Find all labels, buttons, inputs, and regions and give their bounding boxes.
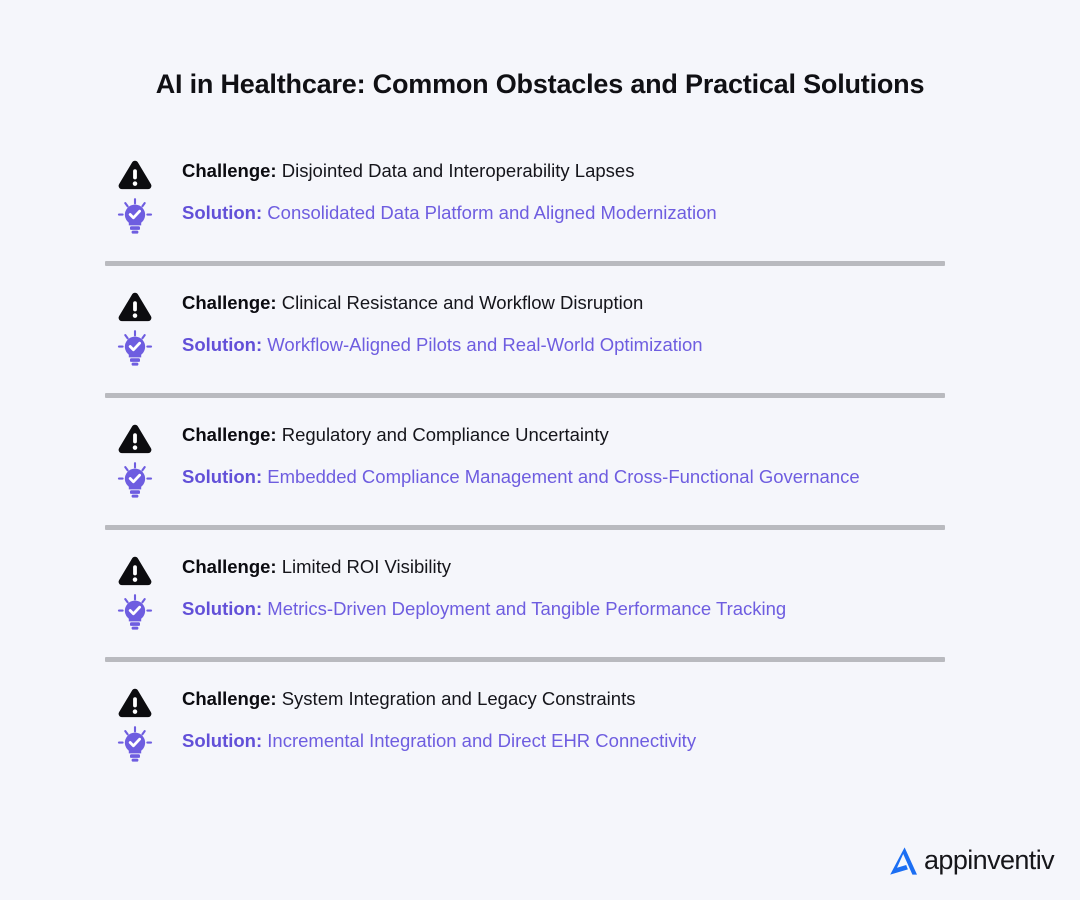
solution-text-cell: Solution: Workflow-Aligned Pilots and Re… <box>162 331 962 358</box>
solution-text-cell: Solution: Incremental Integration and Di… <box>162 727 962 754</box>
challenge-row: Challenge: Regulatory and Compliance Unc… <box>0 422 1080 455</box>
solution-text-cell: Solution: Embedded Compliance Management… <box>162 463 962 490</box>
challenge-text: Challenge: Limited ROI Visibility <box>182 554 962 580</box>
challenge-label: Challenge: <box>182 688 277 709</box>
warning-triangle-icon <box>118 687 152 719</box>
solution-row: Solution: Metrics-Driven Deployment and … <box>0 595 1080 631</box>
challenge-row: Challenge: Limited ROI Visibility <box>0 554 1080 587</box>
solution-label: Solution: <box>182 202 262 223</box>
lightbulb-check-icon <box>116 593 154 631</box>
challenge-text-cell: Challenge: Regulatory and Compliance Unc… <box>162 422 962 448</box>
challenge-label: Challenge: <box>182 424 277 445</box>
solution-icon-cell <box>118 727 162 763</box>
solution-row: Solution: Consolidated Data Platform and… <box>0 199 1080 235</box>
challenge-label: Challenge: <box>182 556 277 577</box>
challenge-value: System Integration and Legacy Constraint… <box>282 688 636 709</box>
challenge-value: Regulatory and Compliance Uncertainty <box>282 424 609 445</box>
solution-row: Solution: Embedded Compliance Management… <box>0 463 1080 499</box>
infographic-page: AI in Healthcare: Common Obstacles and P… <box>0 0 1080 900</box>
challenge-solution-entry: Challenge: Limited ROI Visibility <box>0 554 1080 631</box>
challenge-label: Challenge: <box>182 160 277 181</box>
challenge-text: Challenge: Disjointed Data and Interoper… <box>182 158 962 184</box>
challenge-solution-entry: Challenge: Disjointed Data and Interoper… <box>0 158 1080 235</box>
solution-text: Solution: Incremental Integration and Di… <box>182 727 942 754</box>
challenge-text: Challenge: Regulatory and Compliance Unc… <box>182 422 962 448</box>
solution-value: Consolidated Data Platform and Aligned M… <box>267 202 716 223</box>
challenge-row: Challenge: Disjointed Data and Interoper… <box>0 158 1080 191</box>
challenge-value: Limited ROI Visibility <box>282 556 451 577</box>
solution-label: Solution: <box>182 730 262 751</box>
challenge-icon-cell <box>118 554 162 587</box>
challenge-solution-entry: Challenge: System Integration and Legacy… <box>0 686 1080 763</box>
challenge-text-cell: Challenge: Disjointed Data and Interoper… <box>162 158 962 184</box>
warning-triangle-icon <box>118 423 152 455</box>
solution-row: Solution: Workflow-Aligned Pilots and Re… <box>0 331 1080 367</box>
challenge-text-cell: Challenge: Clinical Resistance and Workf… <box>162 290 962 316</box>
entry-divider <box>105 657 945 662</box>
lightbulb-check-icon <box>116 461 154 499</box>
challenge-solution-entry: Challenge: Clinical Resistance and Workf… <box>0 290 1080 367</box>
challenge-text: Challenge: Clinical Resistance and Workf… <box>182 290 962 316</box>
lightbulb-check-icon <box>116 197 154 235</box>
solution-label: Solution: <box>182 334 262 355</box>
solution-text: Solution: Workflow-Aligned Pilots and Re… <box>182 331 942 358</box>
appinventiv-wordmark: appinventiv <box>924 847 1054 876</box>
challenge-icon-cell <box>118 686 162 719</box>
entry-divider <box>105 393 945 398</box>
page-title-container: AI in Healthcare: Common Obstacles and P… <box>0 0 1080 120</box>
page-title: AI in Healthcare: Common Obstacles and P… <box>156 68 925 102</box>
challenge-value: Disjointed Data and Interoperability Lap… <box>282 160 635 181</box>
solution-value: Metrics-Driven Deployment and Tangible P… <box>267 598 786 619</box>
warning-triangle-icon <box>118 555 152 587</box>
appinventiv-a-mark-icon <box>887 844 921 878</box>
solution-value: Workflow-Aligned Pilots and Real-World O… <box>267 334 702 355</box>
challenge-text-cell: Challenge: Limited ROI Visibility <box>162 554 962 580</box>
warning-triangle-icon <box>118 159 152 191</box>
challenge-solution-entry: Challenge: Regulatory and Compliance Unc… <box>0 422 1080 499</box>
challenge-solution-list: Challenge: Disjointed Data and Interoper… <box>0 158 1080 763</box>
solution-label: Solution: <box>182 466 262 487</box>
challenge-text-cell: Challenge: System Integration and Legacy… <box>162 686 962 712</box>
solution-icon-cell <box>118 463 162 499</box>
solution-icon-cell <box>118 595 162 631</box>
solution-value: Embedded Compliance Management and Cross… <box>267 466 859 487</box>
entry-divider <box>105 261 945 266</box>
appinventiv-logo: appinventiv <box>887 844 1054 878</box>
lightbulb-check-icon <box>116 329 154 367</box>
challenge-label: Challenge: <box>182 292 277 313</box>
challenge-row: Challenge: System Integration and Legacy… <box>0 686 1080 719</box>
entry-divider <box>105 525 945 530</box>
challenge-icon-cell <box>118 158 162 191</box>
solution-label: Solution: <box>182 598 262 619</box>
solution-value: Incremental Integration and Direct EHR C… <box>267 730 696 751</box>
challenge-icon-cell <box>118 422 162 455</box>
solution-text: Solution: Embedded Compliance Management… <box>182 463 942 490</box>
solution-text-cell: Solution: Metrics-Driven Deployment and … <box>162 595 962 622</box>
solution-row: Solution: Incremental Integration and Di… <box>0 727 1080 763</box>
solution-text: Solution: Consolidated Data Platform and… <box>182 199 942 226</box>
warning-triangle-icon <box>118 291 152 323</box>
lightbulb-check-icon <box>116 725 154 763</box>
challenge-value: Clinical Resistance and Workflow Disrupt… <box>282 292 644 313</box>
solution-text: Solution: Metrics-Driven Deployment and … <box>182 595 942 622</box>
challenge-row: Challenge: Clinical Resistance and Workf… <box>0 290 1080 323</box>
challenge-icon-cell <box>118 290 162 323</box>
solution-icon-cell <box>118 199 162 235</box>
challenge-text: Challenge: System Integration and Legacy… <box>182 686 962 712</box>
solution-icon-cell <box>118 331 162 367</box>
solution-text-cell: Solution: Consolidated Data Platform and… <box>162 199 962 226</box>
